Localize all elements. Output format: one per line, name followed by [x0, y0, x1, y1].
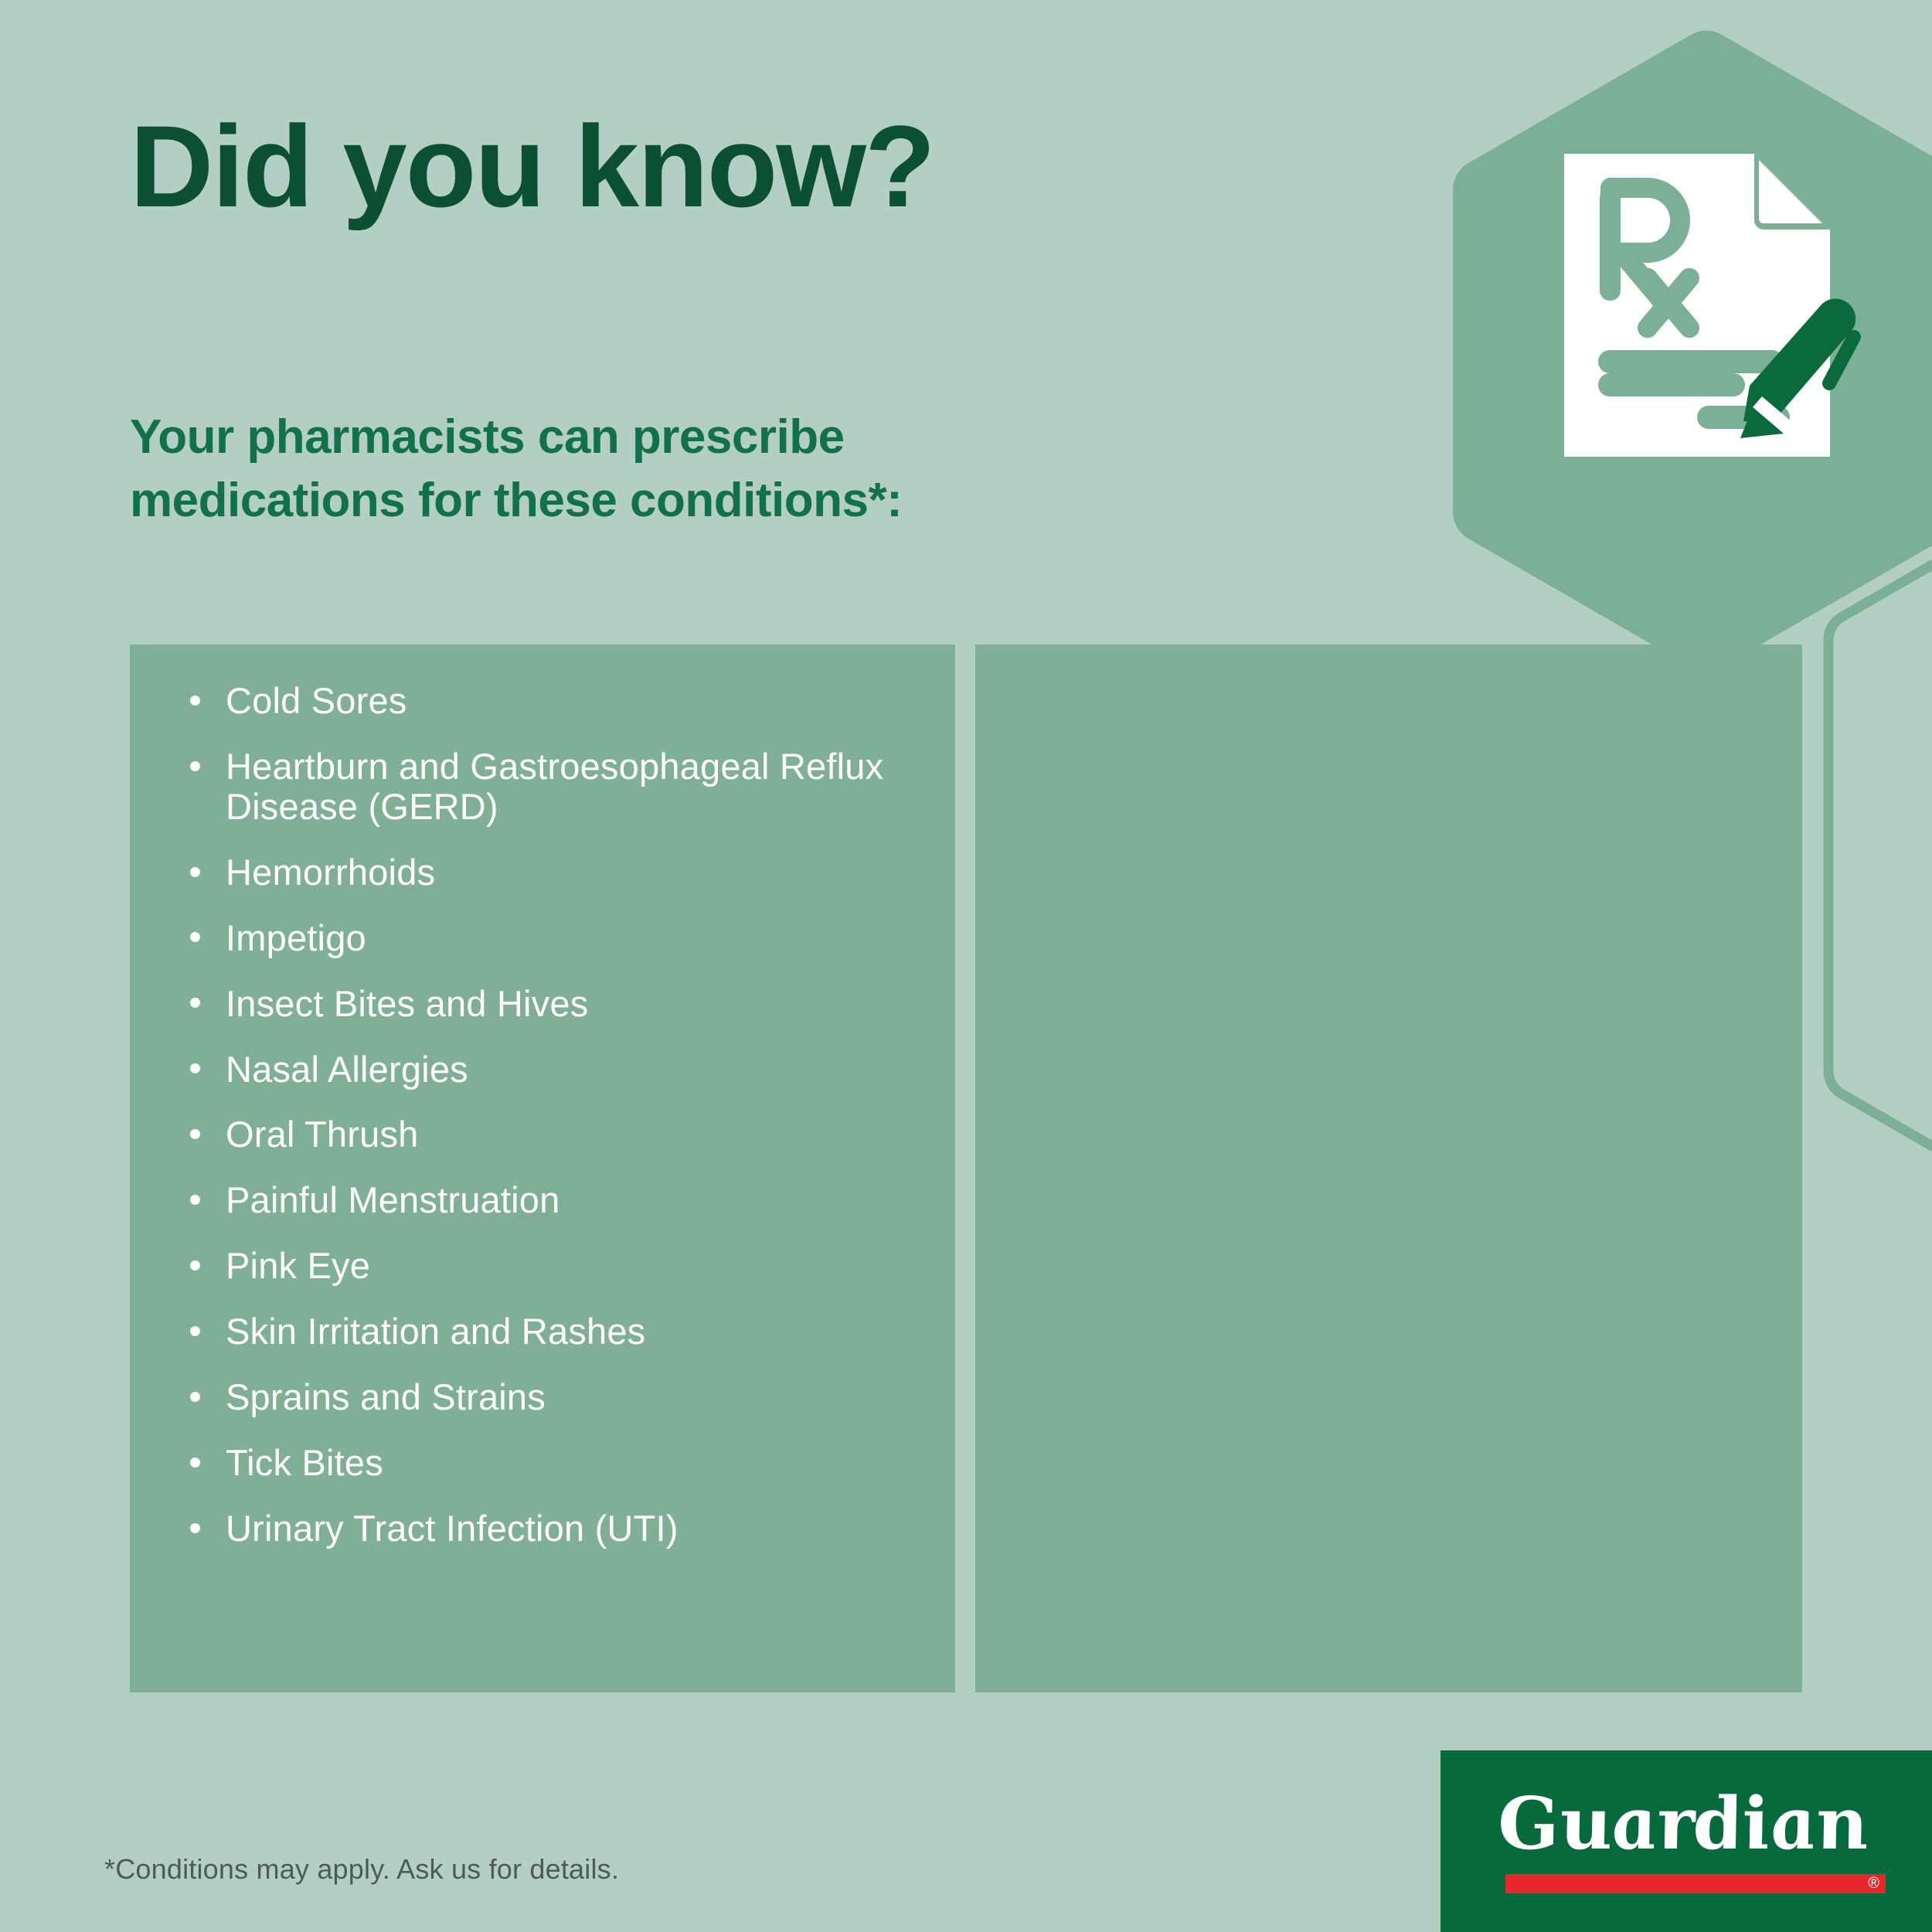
bullet-icon [190, 696, 200, 706]
conditions-list: Cold Sores Heartburn and Gastroesophagea… [184, 681, 932, 1574]
list-item-label: Skin Irritation and Rashes [226, 1311, 645, 1352]
rx-prescription-icon-group [1561, 151, 1886, 460]
list-item: Tick Bites [184, 1443, 932, 1483]
bullet-icon [190, 1458, 200, 1468]
rx-prescription-document-icon [1561, 151, 1886, 460]
list-item-label: Cold Sores [226, 680, 407, 721]
conditions-panel-right [975, 645, 1802, 1692]
list-item: Nasal Allergies [184, 1049, 932, 1090]
bullet-icon [190, 1063, 200, 1073]
registered-trademark-icon: ® [1868, 1876, 1879, 1892]
bullet-icon [190, 1392, 200, 1402]
list-item-label: Urinary Tract Infection (UTI) [226, 1508, 679, 1549]
list-item: Hemorrhoids [184, 852, 932, 893]
subtitle-line-1: Your pharmacists can prescribe [130, 406, 1289, 469]
list-item: Sprains and Strains [184, 1377, 932, 1417]
list-item: Pink Eye [184, 1246, 932, 1286]
subtitle-line-2: medications for these conditions*: [130, 469, 1289, 532]
bullet-icon [190, 1326, 200, 1336]
list-item-label: Insect Bites and Hives [226, 983, 588, 1024]
list-item-label: Hemorrhoids [226, 852, 435, 893]
bullet-icon [190, 1195, 200, 1205]
bullet-icon [190, 1523, 200, 1533]
hexagon-outline-shape [1828, 549, 1932, 1161]
document-line-2 [1598, 373, 1745, 396]
list-item: Oral Thrush [184, 1114, 932, 1155]
list-item-label: Heartburn and Gastroesophageal Reflux Di… [226, 746, 883, 827]
guardian-wordmark: Guardian [1492, 1787, 1886, 1865]
list-item-label: Sprains and Strains [226, 1376, 546, 1417]
guardian-red-rule [1505, 1874, 1886, 1893]
page-title: Did you know? [130, 108, 934, 224]
bullet-icon [190, 1129, 200, 1139]
bullet-icon [190, 867, 200, 877]
bullet-icon [190, 1260, 200, 1270]
list-item: Cold Sores [184, 681, 932, 721]
list-item: Painful Menstruation [184, 1180, 932, 1220]
list-item-label: Impetigo [226, 917, 366, 958]
document-line-1 [1598, 350, 1784, 373]
guardian-logo: Guardian ® [1440, 1750, 1932, 1932]
bullet-icon [190, 761, 200, 771]
list-item-label: Oral Thrush [226, 1114, 418, 1155]
poster-canvas: Did you know? Your pharmacists can presc… [0, 0, 1932, 1932]
guardian-logo-inner: Guardian ® [1505, 1787, 1886, 1865]
list-item: Impetigo [184, 918, 932, 958]
footnote-disclaimer: *Conditions may apply. Ask us for detail… [104, 1853, 619, 1886]
list-item-label: Pink Eye [226, 1245, 370, 1286]
list-item: Skin Irritation and Rashes [184, 1311, 932, 1352]
bullet-icon [190, 932, 200, 942]
list-item-label: Tick Bites [226, 1442, 383, 1483]
list-item: Urinary Tract Infection (UTI) [184, 1509, 932, 1549]
list-item: Insect Bites and Hives [184, 984, 932, 1024]
conditions-panel-left: Cold Sores Heartburn and Gastroesophagea… [130, 645, 955, 1692]
list-item: Heartburn and Gastroesophageal Reflux Di… [184, 747, 932, 827]
bullet-icon [190, 998, 200, 1008]
list-item-label: Painful Menstruation [226, 1179, 560, 1220]
list-item-label: Nasal Allergies [226, 1049, 468, 1090]
subtitle: Your pharmacists can prescribe medicatio… [130, 406, 1289, 532]
